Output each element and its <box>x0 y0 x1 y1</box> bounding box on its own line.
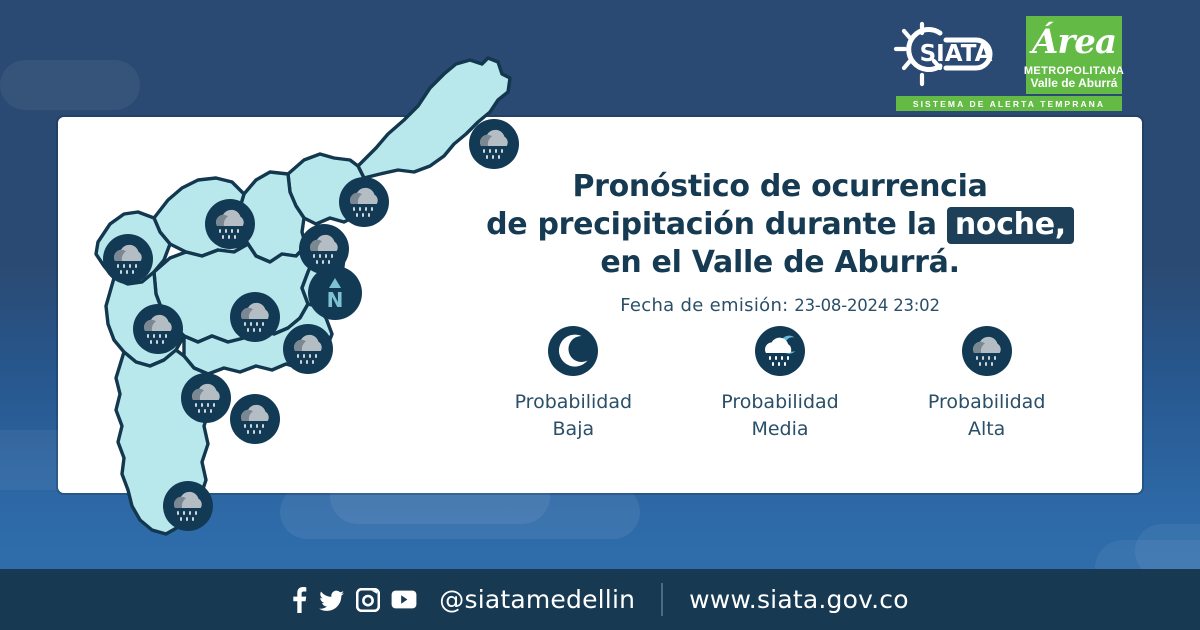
valle-de-aburra-map: N <box>58 48 528 563</box>
compass-label: N <box>327 288 344 312</box>
probability-legend: Probabilidad Baja Probabilidad M <box>470 325 1090 443</box>
compass-north-icon: N <box>308 266 362 320</box>
map-marker-envigado[interactable] <box>282 323 334 375</box>
legend-item-alta: Probabilidad Alta <box>902 325 1072 443</box>
instagram-icon[interactable] <box>356 588 380 612</box>
footer-divider <box>661 583 663 616</box>
logo-group: SIATA Área METROPOLITANA Valle de Aburrá <box>888 16 1122 96</box>
legend-label-baja-1: Probabilidad <box>488 389 658 416</box>
area-line2: Valle de Aburrá <box>1031 77 1118 90</box>
legend-label-alta-2: Alta <box>902 416 1072 443</box>
issue-date-value: 23-08-2024 23:02 <box>794 296 940 315</box>
map-marker-barbosa[interactable] <box>468 118 520 170</box>
map-marker-san-pedro[interactable] <box>204 198 256 250</box>
website-url[interactable]: www.siata.gov.co <box>689 585 909 614</box>
legend-label-media-2: Media <box>695 416 865 443</box>
legend-item-baja: Probabilidad Baja <box>488 325 658 443</box>
social-icons <box>291 587 417 613</box>
map-marker-medellin[interactable] <box>229 291 281 343</box>
map-marker-itagui[interactable] <box>132 303 184 355</box>
map-marker-sabaneta[interactable] <box>180 372 232 424</box>
title-line-1: Pronóstico de ocurrencia <box>470 168 1090 206</box>
legend-label-alta-1: Probabilidad <box>902 389 1072 416</box>
moon-icon <box>547 325 599 377</box>
cloud-moon-rain-icon <box>754 325 806 377</box>
twitter-icon[interactable] <box>319 587 345 613</box>
issue-date-label: Fecha de emisión: <box>620 295 788 316</box>
facebook-icon[interactable] <box>291 587 308 613</box>
legend-item-media: Probabilidad Media <box>695 325 865 443</box>
title-line-3: en el Valle de Aburrá. <box>470 244 1090 282</box>
siata-logo: SIATA <box>888 16 1018 96</box>
infographic-root: SIATA Área METROPOLITANA Valle de Aburrá… <box>0 0 1200 630</box>
legend-label-media-1: Probabilidad <box>695 389 865 416</box>
area-metropolitana-logo: Área METROPOLITANA Valle de Aburrá <box>1026 16 1122 94</box>
title-block: Pronóstico de ocurrencia de precipitació… <box>470 168 1090 316</box>
cloud-rain-icon <box>961 325 1013 377</box>
social-handle[interactable]: @siatamedellin <box>439 585 635 614</box>
map-marker-caldas[interactable] <box>162 480 214 532</box>
map-marker-la-estrella[interactable] <box>229 393 281 445</box>
map-marker-girardota[interactable] <box>338 176 390 228</box>
title-line-2-text: de precipitación durante la <box>486 207 937 242</box>
tagline-text: SISTEMA DE ALERTA TEMPRANA <box>913 99 1105 109</box>
youtube-icon[interactable] <box>391 590 417 609</box>
title-line-2: de precipitación durante la noche, <box>470 206 1090 244</box>
legend-label-baja-2: Baja <box>488 416 658 443</box>
area-script-text: Área <box>1026 20 1122 64</box>
title-highlight-noche: noche, <box>947 207 1074 244</box>
tagline-banner: SISTEMA DE ALERTA TEMPRANA <box>896 96 1122 111</box>
siata-wordmark: SIATA <box>920 41 993 67</box>
footer-bar: @siatamedellin www.siata.gov.co <box>0 569 1200 630</box>
map-marker-bello[interactable] <box>102 233 154 285</box>
issue-date-row: Fecha de emisión: 23-08-2024 23:02 <box>470 295 1090 316</box>
